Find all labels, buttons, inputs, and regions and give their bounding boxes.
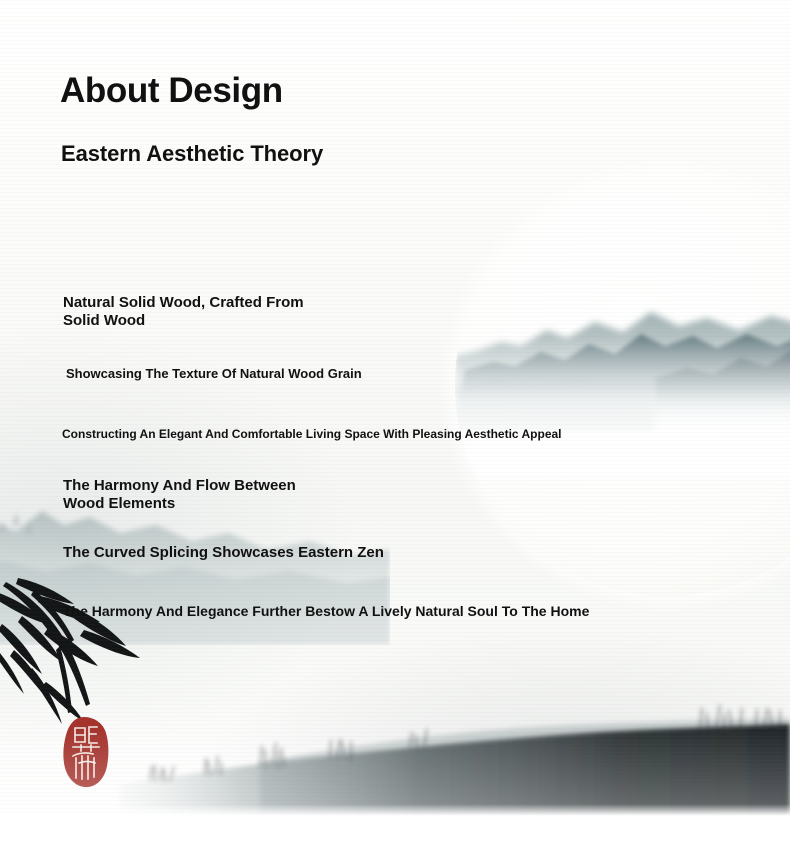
about-design-page: About Design Eastern Aesthetic Theory Na… [0, 0, 790, 844]
feature-1-caption: Showcasing The Texture Of Natural Wood G… [66, 366, 362, 381]
feature-2-title: The Harmony And Flow Between Wood Elemen… [63, 477, 296, 513]
feature-2-caption: The Curved Splicing Showcases Eastern Ze… [63, 544, 384, 561]
text-layer: About Design Eastern Aesthetic Theory Na… [0, 0, 790, 844]
feature-2-note: The Harmony And Elegance Further Bestow … [63, 603, 589, 619]
section-subtitle: Eastern Aesthetic Theory [61, 141, 323, 167]
page-title: About Design [60, 72, 283, 111]
feature-1-title: Natural Solid Wood, Crafted From Solid W… [63, 294, 304, 330]
feature-1-note: Constructing An Elegant And Comfortable … [62, 427, 562, 441]
